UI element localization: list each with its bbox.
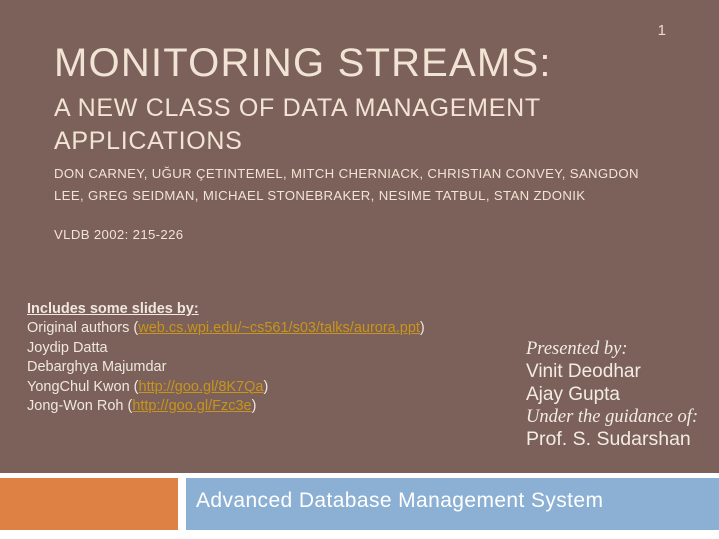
credits-line: Joydip Datta [27, 339, 425, 358]
footer-accent-bar [0, 478, 178, 530]
credits-line: Debarghya Majumdar [27, 358, 425, 377]
credits-line-suffix: ) [420, 320, 425, 336]
page-number: 1 [648, 22, 676, 39]
credits-line-prefix: Joydip Datta [27, 340, 108, 356]
credits-line-prefix: YongChul Kwon ( [27, 379, 139, 395]
credits-line-prefix: Debarghya Majumdar [27, 359, 166, 375]
credits-heading: Includes some slides by: [27, 300, 425, 319]
credits-link-jong-won-roh[interactable]: http://goo.gl/Fzc3e [132, 398, 251, 414]
presenter-name-2: Ajay Gupta [526, 383, 719, 406]
slide-title-subtitle: A NEW CLASS OF DATA MANAGEMENT APPLICATI… [54, 92, 654, 158]
guidance-label: Under the guidance of: [526, 406, 719, 428]
paper-authors: DON CARNEY, UĞUR ÇETINTEMEL, MITCH CHERN… [54, 163, 666, 207]
credits-link-original-authors[interactable]: web.cs.wpi.edu/~cs561/s03/talks/aurora.p… [138, 320, 420, 336]
credits-line-suffix: ) [263, 379, 268, 395]
credits-line: Original authors (web.cs.wpi.edu/~cs561/… [27, 319, 425, 338]
presenter-name-1: Vinit Deodhar [526, 360, 719, 383]
credits-line-prefix: Jong-Won Roh ( [27, 398, 132, 414]
slide-title-main: MONITORING STREAMS: [54, 40, 552, 86]
paper-venue: VLDB 2002: 215-226 [54, 227, 183, 242]
credits-line-suffix: ) [252, 398, 257, 414]
guide-name: Prof. S. Sudarshan [526, 428, 719, 451]
credits-link-yongchul-kwon[interactable]: http://goo.gl/8K7Qa [139, 379, 264, 395]
credits-line: Jong-Won Roh (http://goo.gl/Fzc3e) [27, 397, 425, 416]
footer-course-title: Advanced Database Management System [196, 489, 603, 513]
presented-by-label: Presented by: [526, 338, 719, 360]
credits-line: YongChul Kwon (http://goo.gl/8K7Qa) [27, 378, 425, 397]
presentation-slide: 1 MONITORING STREAMS: A NEW CLASS OF DAT… [0, 0, 719, 539]
credits-block: Includes some slides by: Original author… [27, 300, 425, 416]
credits-line-prefix: Original authors ( [27, 320, 138, 336]
presented-by-block: Presented by: Vinit Deodhar Ajay Gupta U… [526, 338, 719, 451]
